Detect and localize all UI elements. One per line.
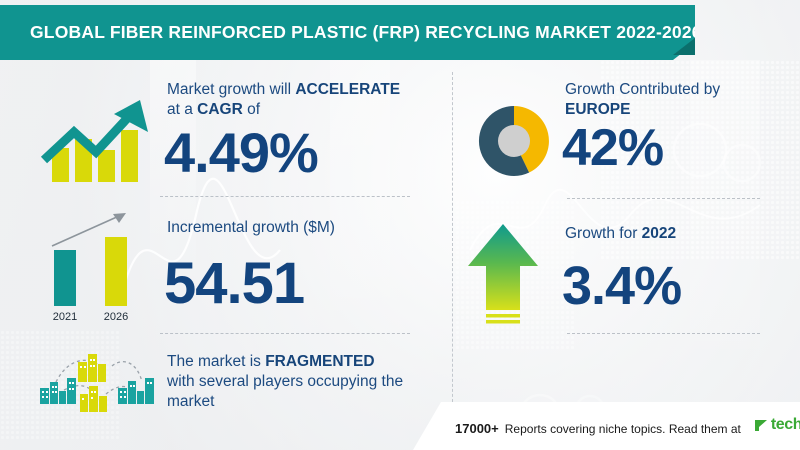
- footer-content: 17000+ Reports covering niche topics. Re…: [413, 416, 800, 436]
- fragmentation-line3: market: [167, 393, 214, 410]
- yearly-value: 3.4%: [562, 255, 681, 317]
- divider-right-2: [567, 333, 760, 334]
- incremental-label: Incremental growth ($M): [167, 218, 437, 238]
- divider-right-1: [567, 198, 760, 199]
- footer-bar: 17000+ Reports covering niche topics. Re…: [413, 402, 800, 450]
- two-bar-growth-icon: 2021 2026: [22, 202, 162, 324]
- fragmentation-label: The market is FRAGMENTED with several pl…: [167, 352, 447, 412]
- yearly-label-strong: 2022: [642, 225, 676, 242]
- city-buildings-network-icon: [26, 348, 158, 416]
- cagr-label-line1-prefix: Market growth will: [167, 81, 295, 98]
- page-title: GLOBAL FIBER REINFORCED PLASTIC (FRP) RE…: [0, 22, 702, 43]
- reports-count: 17000+: [455, 421, 499, 436]
- cagr-label: Market growth will ACCELERATE at a CAGR …: [167, 80, 437, 120]
- region-value: 42%: [562, 118, 663, 178]
- region-label-strong: EUROPE: [565, 101, 630, 118]
- incremental-value: 54.51: [164, 250, 304, 317]
- growth-bar-arrow-icon: [30, 92, 160, 188]
- yearly-label-prefix: Growth for: [565, 225, 642, 242]
- cagr-label-line2-strong: CAGR: [197, 101, 243, 118]
- footer-text: Reports covering niche topics. Read them…: [505, 422, 741, 436]
- cagr-label-line1-strong: ACCELERATE: [295, 81, 400, 98]
- logo-text-tech: tech: [771, 416, 800, 434]
- fragmentation-line2: with several players occupying the: [167, 373, 403, 390]
- title-banner: GLOBAL FIBER REINFORCED PLASTIC (FRP) RE…: [0, 5, 695, 60]
- svg-text:2021: 2021: [53, 311, 77, 323]
- region-label-line1: Growth Contributed by: [565, 81, 720, 98]
- infographic-canvas: GLOBAL FIBER REINFORCED PLASTIC (FRP) RE…: [0, 0, 800, 450]
- cagr-value: 4.49%: [164, 120, 318, 185]
- vertical-divider: [452, 72, 453, 412]
- yearly-label: Growth for 2022: [565, 224, 790, 244]
- svg-text:2026: 2026: [104, 311, 128, 323]
- region-label: Growth Contributed by EUROPE: [565, 80, 790, 120]
- donut-chart-icon: [475, 102, 553, 180]
- fragmentation-line1-strong: FRAGMENTED: [265, 353, 374, 370]
- fragmentation-line1-prefix: The market is: [167, 353, 265, 370]
- up-arrow-gradient-icon: [466, 222, 540, 328]
- cagr-label-line2-suffix: of: [243, 101, 260, 118]
- divider-left-1: [160, 196, 410, 197]
- cagr-label-line2-prefix: at a: [167, 101, 197, 118]
- flag-triangle-icon: [753, 418, 769, 433]
- technavio-logo[interactable]: technavio®: [753, 416, 800, 434]
- divider-left-2: [160, 333, 410, 334]
